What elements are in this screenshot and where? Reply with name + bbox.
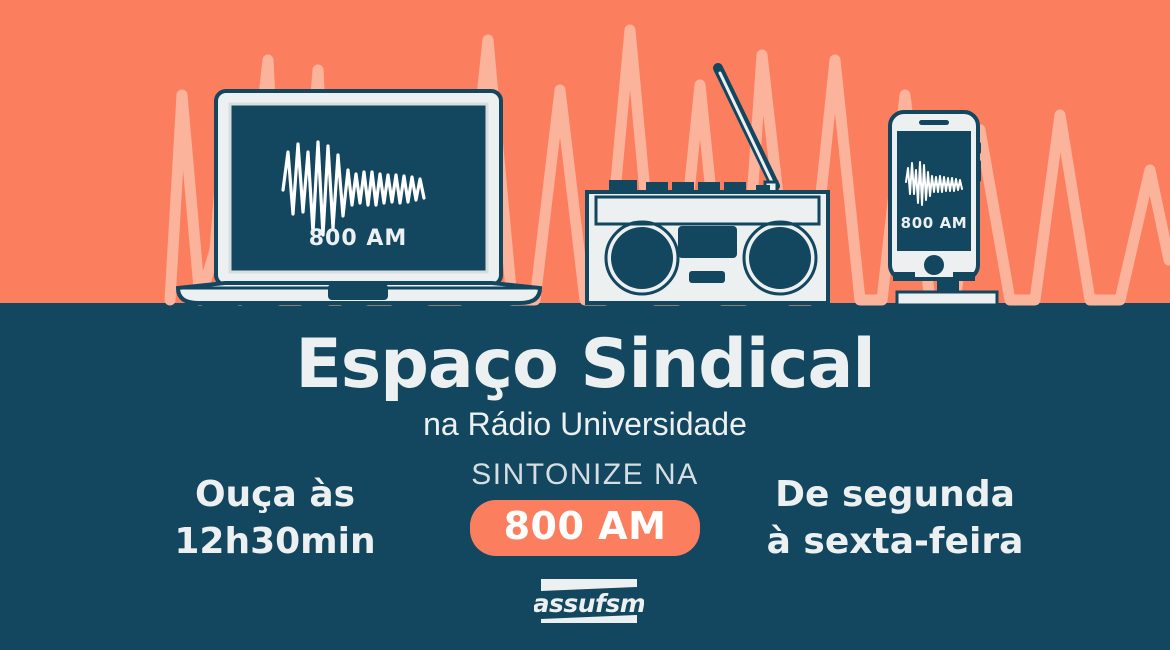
schedule-days-line1: De segunda [730,471,1060,518]
logo-wordmark: assufsm [534,589,644,618]
laptop-icon: 800 AM [178,91,540,303]
schedule-days-block: De segunda à sexta-feira [730,471,1060,565]
schedule-time-block: Ouça às 12h30min [110,471,440,565]
station-kicker: SINTONIZE NA [435,458,735,492]
devices-illustration: 800 AM [0,0,1170,330]
assufsm-logo: assufsm [534,577,644,625]
page-subtitle: na Rádio Universidade [0,406,1170,442]
radio-icon [587,68,828,303]
svg-text:800 AM: 800 AM [901,214,968,232]
station-badge: 800 AM [470,500,701,556]
station-block: SINTONIZE NA 800 AM [435,458,735,556]
svg-text:800 AM: 800 AM [309,226,408,251]
poster-root: 800 AM [0,0,1170,650]
schedule-days-line2: à sexta-feira [730,518,1060,565]
smartphone-icon: 800 AM [890,112,997,305]
page-title: Espaço Sindical [0,330,1170,400]
schedule-time-line2: 12h30min [110,518,440,565]
schedule-time-line1: Ouça às [110,471,440,518]
